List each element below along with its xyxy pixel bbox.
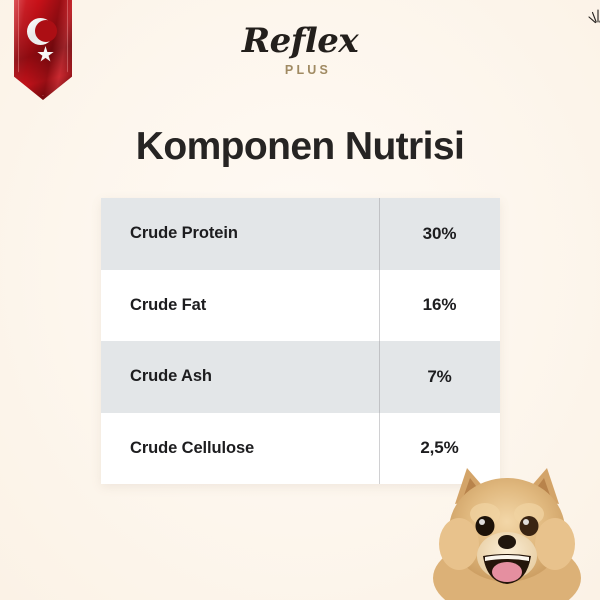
column-divider — [379, 341, 380, 413]
row-label: Crude Protein — [101, 224, 379, 243]
row-value: 7% — [379, 367, 500, 387]
column-divider — [379, 270, 380, 342]
row-label: Crude Fat — [101, 296, 379, 315]
table-row: Crude Ash 7% — [101, 341, 500, 413]
column-divider — [379, 413, 380, 485]
column-divider — [379, 198, 380, 270]
brand-wordmark: Reflex — [242, 24, 358, 58]
sparkle-icon — [587, 9, 600, 29]
page-title: Komponen Nutrisi — [0, 126, 600, 169]
table-row: Crude Protein 30% — [101, 198, 500, 270]
nutrition-table: Crude Protein 30% Crude Fat 16% Crude As… — [101, 198, 500, 484]
brand-logo: Reflex PLUS — [0, 24, 600, 77]
pomeranian-dog-photo — [415, 452, 600, 600]
row-label: Crude Cellulose — [101, 439, 379, 458]
table-row: Crude Fat 16% — [101, 270, 500, 342]
brand-plus-label: PLUS — [0, 63, 600, 77]
poster-canvas: Reflex PLUS Komponen Nutrisi Crude Prote… — [0, 0, 600, 600]
row-value: 16% — [379, 295, 500, 315]
row-label: Crude Ash — [101, 367, 379, 386]
row-value: 30% — [379, 224, 500, 244]
